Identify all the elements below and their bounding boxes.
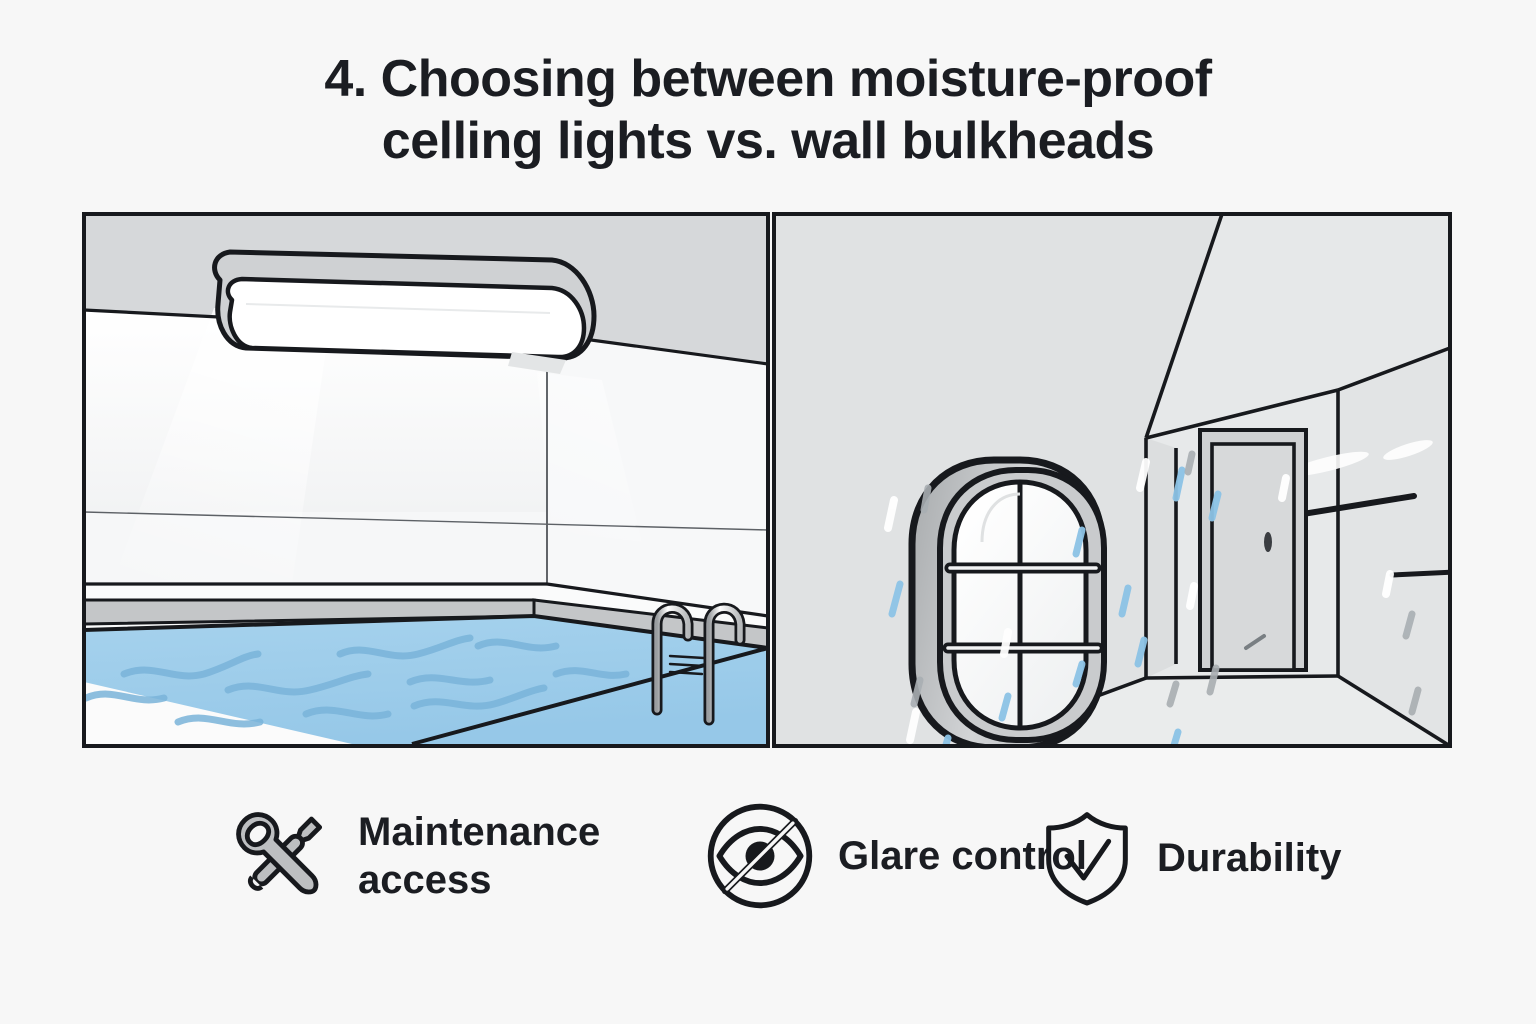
- corridor-door: [1200, 430, 1306, 670]
- title-line-2: celling lights vs. wall bulkheads: [0, 110, 1536, 172]
- right-panel-corridor: [774, 214, 1452, 748]
- feature-item-glare-control: Glare control: [702, 798, 1087, 914]
- illustration-panels: [82, 212, 1452, 748]
- feature-label-durability: Durability: [1157, 834, 1341, 882]
- feature-item-maintenance-access: Maintenance access: [222, 798, 618, 914]
- left-panel-pool-room: [84, 214, 768, 746]
- infographic-canvas: 4. Choosing between moisture-proof celli…: [0, 0, 1536, 1024]
- page-title: 4. Choosing between moisture-proof celli…: [0, 48, 1536, 172]
- door-handle: [1264, 532, 1272, 552]
- shield-check-icon: [1037, 808, 1137, 908]
- feature-item-durability: Durability: [1037, 808, 1341, 908]
- wrench-screwdriver-icon: [222, 798, 338, 914]
- feature-label-maintenance-access: Maintenance access: [358, 808, 618, 904]
- title-line-1: 4. Choosing between moisture-proof: [0, 48, 1536, 110]
- no-glare-eye-icon: [702, 798, 818, 914]
- feature-row: Maintenance access Glare control Durabil…: [82, 786, 1452, 946]
